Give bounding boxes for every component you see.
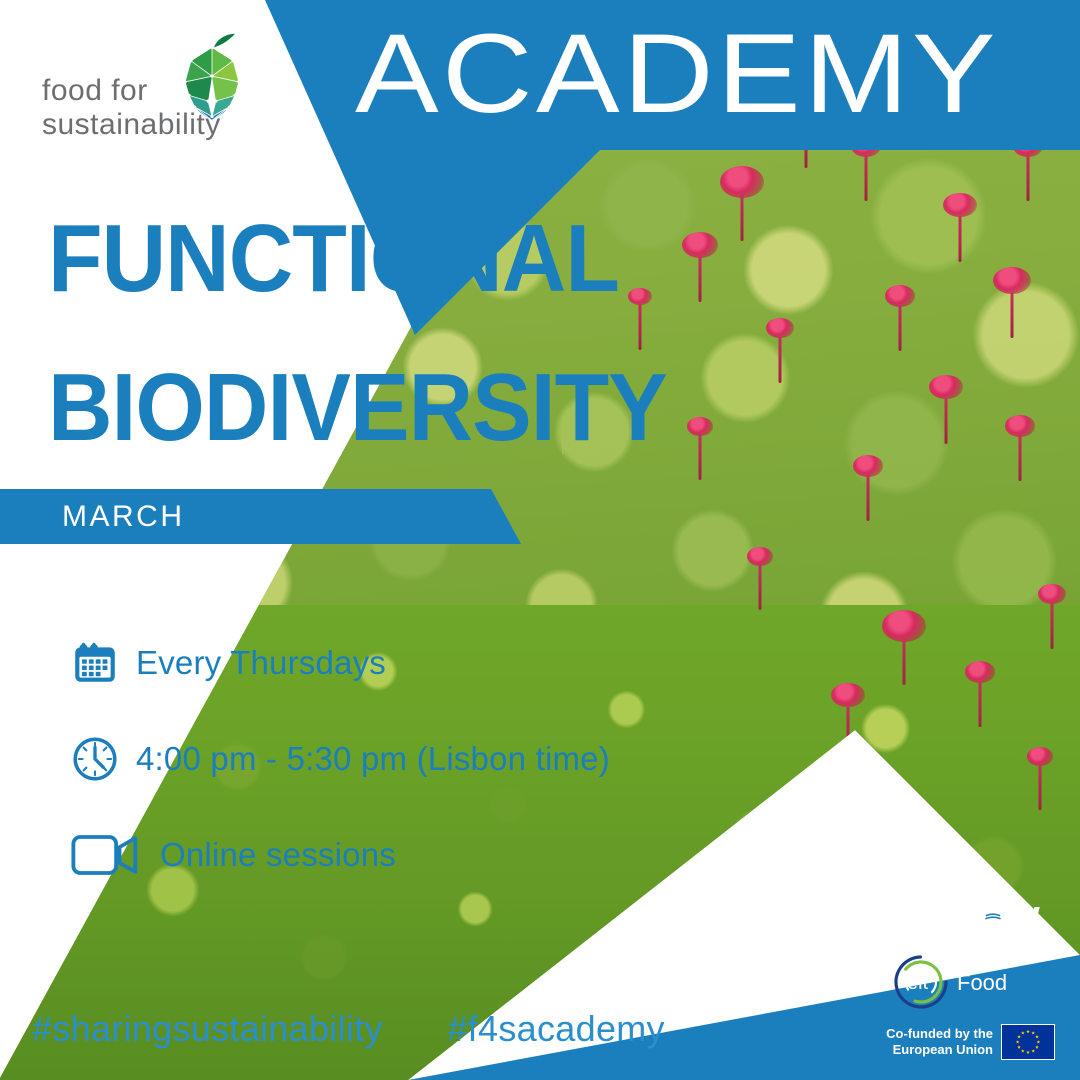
hashtag-primary: #sharingsustainability bbox=[32, 1008, 383, 1049]
eu-funding-text: Co-funded by the European Union bbox=[885, 1026, 993, 1059]
video-camera-icon bbox=[70, 830, 160, 880]
calendar-icon bbox=[70, 638, 136, 688]
month-label: MARCH bbox=[62, 500, 185, 534]
flower-cluster bbox=[1005, 415, 1035, 437]
flower-cluster bbox=[720, 166, 764, 198]
academy-wordmark: ACADEMY bbox=[355, 18, 999, 130]
clock-icon bbox=[70, 734, 136, 784]
eu-flag-icon bbox=[1001, 1024, 1055, 1060]
eit-food-logo: eit Food bbox=[893, 954, 1053, 1010]
flower-cluster bbox=[682, 232, 718, 258]
detail-row-format: Online sessions bbox=[70, 807, 690, 903]
flower-cluster bbox=[687, 417, 713, 436]
svg-text:r: r bbox=[961, 891, 977, 938]
flower-cluster bbox=[882, 610, 926, 642]
eu-funding-line1: Co-funded by the bbox=[885, 1026, 993, 1042]
detail-text-format: Online sessions bbox=[160, 836, 396, 874]
logo-tagline-line2: sustainability bbox=[42, 108, 221, 142]
hashtags: #sharingsustainability #f4sacademy bbox=[32, 1008, 665, 1050]
logo-tagline-line1: food for bbox=[42, 74, 221, 108]
eu-funding-line2: European Union bbox=[885, 1042, 993, 1058]
hashtag-secondary: #f4sacademy bbox=[447, 1008, 664, 1049]
detail-text-schedule: Every Thursdays bbox=[136, 644, 386, 682]
flower-cluster bbox=[1027, 747, 1053, 766]
detail-text-time: 4:00 pm - 5:30 pm (Lisbon time) bbox=[136, 740, 610, 778]
detail-row-schedule: Every Thursdays bbox=[70, 615, 690, 711]
svg-text:g: g bbox=[937, 891, 963, 938]
headline-line-2: BIODIVERSITY bbox=[48, 334, 532, 483]
flower-cluster bbox=[853, 455, 883, 477]
logo-tagline: food for sustainability bbox=[42, 74, 221, 141]
grow-logo: g r w bbox=[937, 889, 1053, 941]
food-for-sustainability-logo: food for sustainability bbox=[42, 32, 257, 142]
svg-text:w: w bbox=[1006, 891, 1040, 938]
detail-row-time: 4:00 pm - 5:30 pm (Lisbon time) bbox=[70, 711, 690, 807]
flower-cluster bbox=[1038, 584, 1066, 604]
poster-canvas: ACADEMY bbox=[0, 0, 1080, 1080]
flower-cluster bbox=[747, 547, 773, 566]
eu-funding-block: Co-funded by the European Union bbox=[885, 1019, 1055, 1065]
flower-cluster bbox=[766, 318, 794, 338]
sun-field-icon bbox=[981, 900, 1006, 923]
svg-text:Food: Food bbox=[957, 970, 1007, 995]
headline-line-1: FUNCTIONAL bbox=[48, 185, 532, 334]
flower-cluster bbox=[885, 285, 915, 307]
event-details-list: Every Thursdays 4:00 pm - 5:30 pm (Lisbo… bbox=[70, 615, 690, 903]
page-title: FUNCTIONAL BIODIVERSITY bbox=[48, 185, 532, 483]
flower-cluster bbox=[965, 661, 995, 683]
svg-text:eit: eit bbox=[907, 972, 929, 994]
